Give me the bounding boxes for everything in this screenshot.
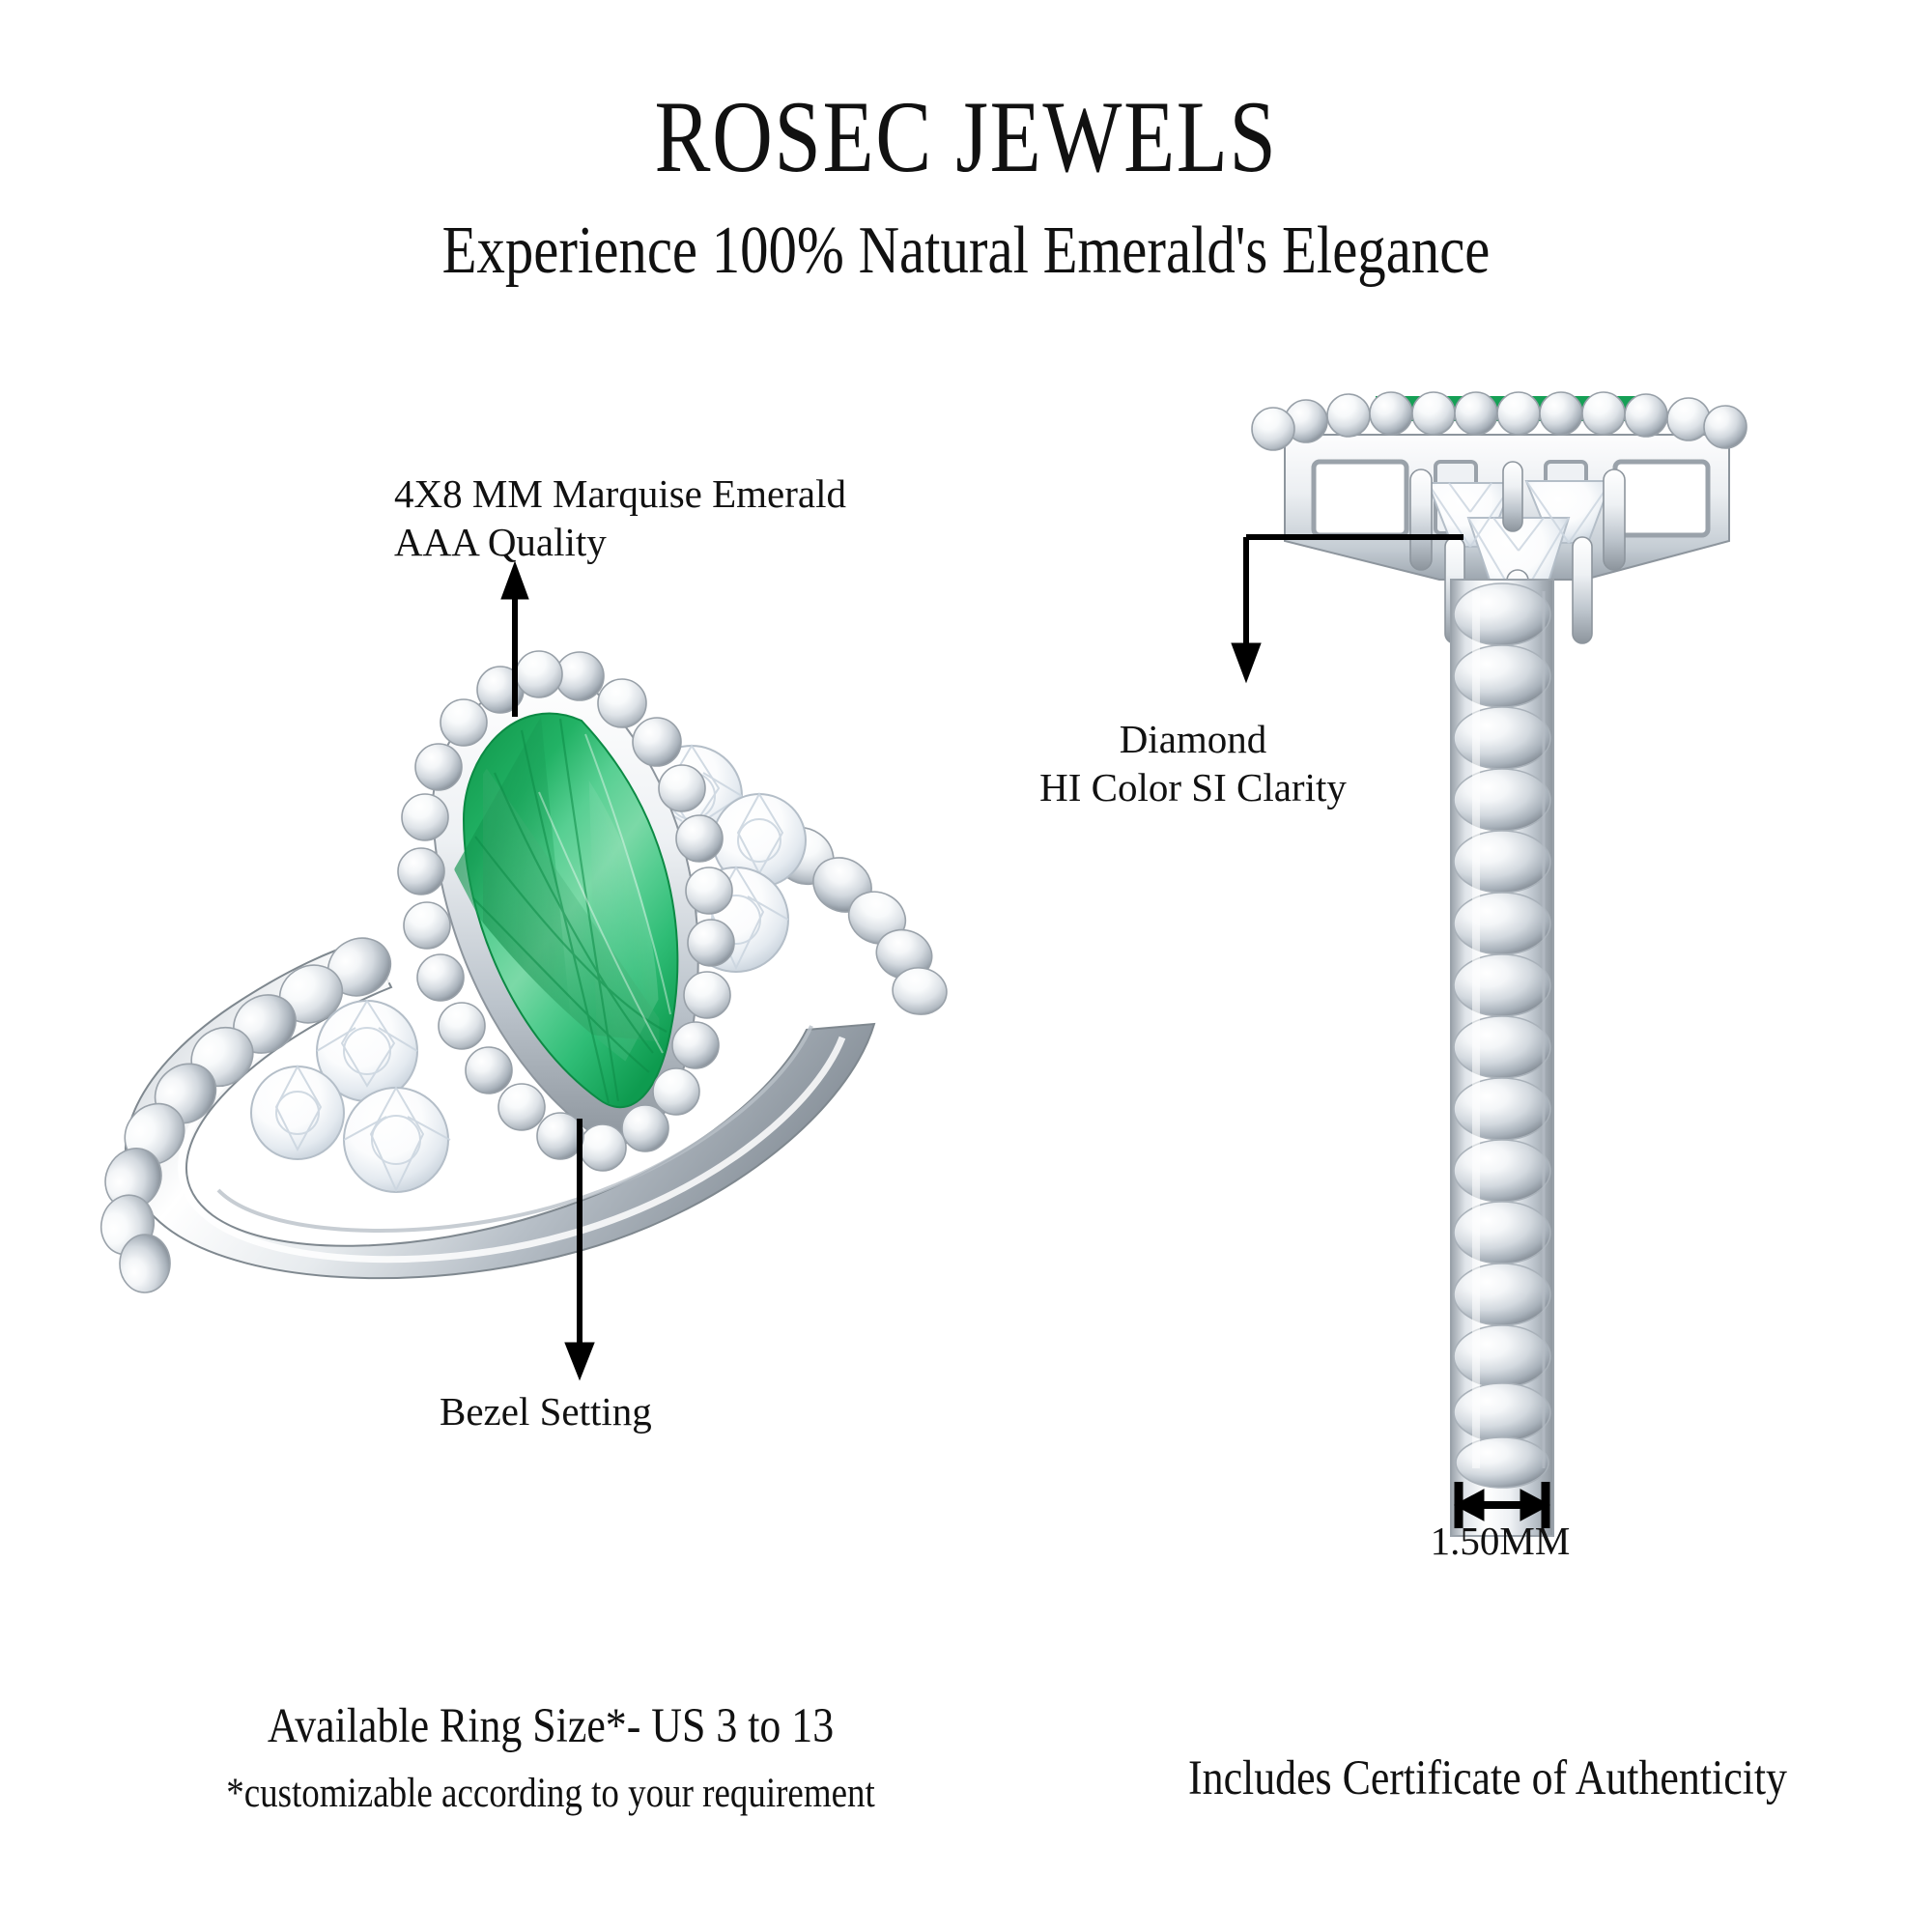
crown-bead-rim [1252,392,1747,450]
annotation-bezel-label: Bezel Setting [440,1387,652,1435]
ring-side-view [1252,392,1747,1536]
band-shaft-beads [1454,583,1550,1488]
page-title: ROSEC JEWELS [174,83,1758,190]
bezel-bead-ring [398,651,734,1171]
page-subtitle: Experience 100% Natural Emerald's Elegan… [155,214,1777,288]
up-arrow-icon [501,562,528,717]
annotation-diamond-label: Diamond HI Color SI Clarity [1039,715,1347,811]
gallery-window-left [1314,462,1406,535]
product-illustration [0,0,1932,1932]
down-arrow-icon-diamond [1232,537,1463,682]
footer-customizable-note: *customizable according to your requirem… [226,1770,875,1817]
band-shaft [1451,580,1553,1536]
footer-ring-size: Available Ring Size*- US 3 to 13 [268,1698,834,1754]
annotation-emerald-label: 4X8 MM Marquise Emerald AAA Quality [394,469,846,566]
emerald-girdle-edge [1376,396,1642,421]
gallery-window-inner-right [1546,462,1586,533]
footer-certificate: Includes Certificate of Authenticity [1188,1750,1787,1806]
annotation-band-width-label: 1.50MM [1431,1517,1571,1565]
bezel-setting [398,651,734,1171]
gallery-window-inner-left [1435,462,1476,533]
marquise-emerald [454,714,677,1111]
accent-diamonds-lower [251,1001,450,1192]
gallery-window-right [1615,462,1708,535]
down-arrow-icon-bezel [565,1119,594,1379]
accent-diamonds-upper [641,746,806,972]
beaded-shank-right [723,788,951,1017]
band-shaft-body [1451,580,1553,1536]
gallery-bar [1285,435,1729,580]
prongs [1410,462,1625,643]
ring-shank [126,939,874,1278]
side-accent-diamonds [1410,462,1625,643]
infographic-canvas: ROSEC JEWELS Experience 100% Natural Eme… [0,0,1932,1932]
ring-top-view [95,651,950,1293]
beaded-shank-left [95,927,400,1293]
annotation-leaders [501,537,1549,1528]
